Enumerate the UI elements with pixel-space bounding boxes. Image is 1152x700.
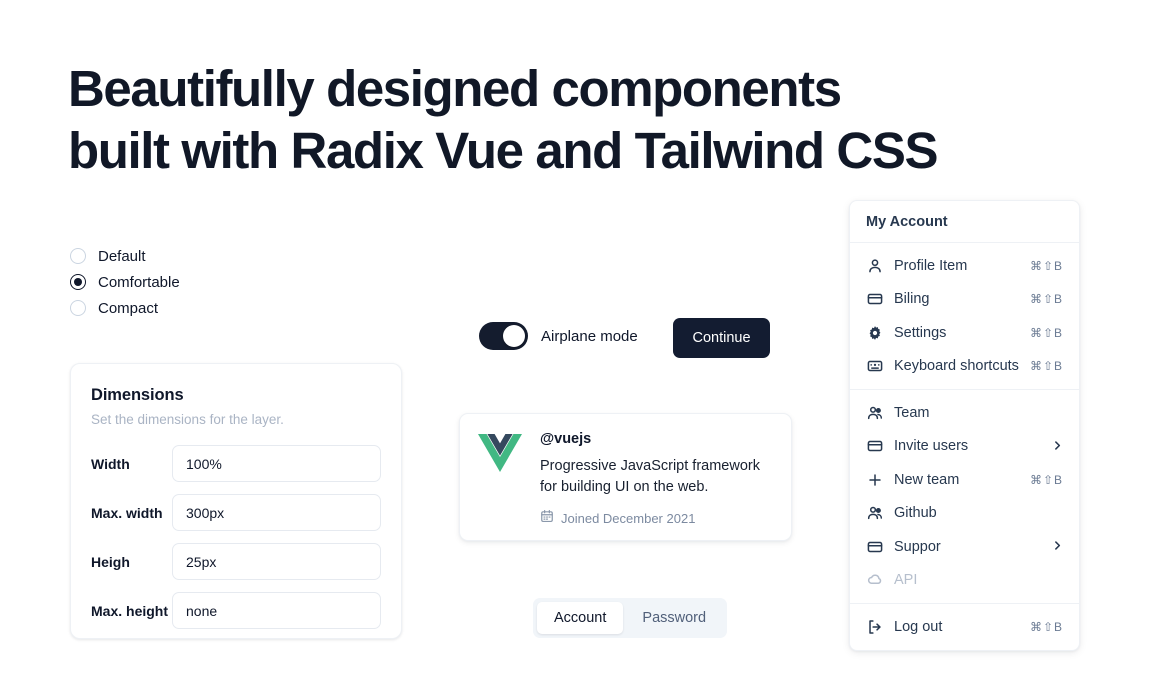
vuejs-handle: @vuejs [540,431,773,447]
menu-group: Log out⌘⇧B [850,604,1079,650]
menu-item-label: Biling [894,291,1019,307]
menu-item-suppor[interactable]: Suppor [850,530,1079,564]
menu-item-label: Log out [894,619,1019,635]
radio-indicator[interactable] [70,300,86,316]
radio-option-compact[interactable]: Compact [70,299,180,317]
continue-button[interactable]: Continue [673,318,770,358]
cloud-icon [866,572,883,589]
joined-text: Joined December 2021 [561,511,695,526]
keyboard-icon [866,358,883,375]
menu-item-shortcut: ⌘⇧B [1030,259,1063,273]
account-dropdown-menu: My Account Profile Item⌘⇧BBiling⌘⇧BSetti… [849,200,1080,651]
vuejs-description: Progressive JavaScript framework for bui… [540,456,773,498]
page-title-line-1: Beautifully designed components [68,58,1028,120]
menu-item-label: Invite users [894,438,1041,454]
dimension-label: Max. width [91,505,172,521]
menu-group: TeamInvite usersNew team⌘⇧BGithubSupporA… [850,390,1079,603]
dimension-label: Max. height [91,603,172,619]
radio-option-comfortable[interactable]: Comfortable [70,273,180,291]
dimension-input-width[interactable] [172,445,381,482]
plus-icon [866,471,883,488]
radio-indicator[interactable] [70,248,86,264]
users-icon [866,505,883,522]
radio-option-default[interactable]: Default [70,247,180,265]
menu-item-new-team[interactable]: New team⌘⇧B [850,463,1079,497]
density-radio-group: DefaultComfortableCompact [70,247,180,317]
menu-item-shortcut: ⌘⇧B [1030,359,1063,373]
menu-item-label: Settings [894,325,1019,341]
person-icon [866,257,883,274]
menu-item-shortcut: ⌘⇧B [1030,620,1063,634]
menu-group: Profile Item⌘⇧BBiling⌘⇧BSettings⌘⇧BKeybo… [850,243,1079,389]
menu-item-api: API [850,564,1079,598]
menu-item-log-out[interactable]: Log out⌘⇧B [850,610,1079,644]
menu-item-label: Keyboard shortcuts [894,358,1019,374]
dimension-input-heigh[interactable] [172,543,381,580]
radio-option-label: Compact [98,300,158,317]
dimensions-card: Dimensions Set the dimensions for the la… [70,363,402,639]
menu-item-team[interactable]: Team [850,396,1079,430]
joined-row: Joined December 2021 [540,509,773,528]
dimensions-subtitle: Set the dimensions for the layer. [91,412,381,427]
radio-option-label: Comfortable [98,274,180,291]
radio-option-label: Default [98,248,146,265]
dimensions-title: Dimensions [91,386,381,405]
credit-card-icon [866,438,883,455]
tab-account[interactable]: Account [537,602,623,634]
menu-item-label: API [894,572,1063,588]
page-title-line-2: built with Radix Vue and Tailwind CSS [68,120,1028,182]
switch-knob [503,325,525,347]
hover-card-body: @vuejs Progressive JavaScript framework … [540,431,773,523]
dimension-row: Heigh [91,543,381,580]
radio-indicator[interactable] [70,274,86,290]
page-root: Beautifully designed components built wi… [0,0,1152,700]
dimension-row: Max. width [91,494,381,531]
menu-header: My Account [850,201,1079,242]
dimension-row: Max. height [91,592,381,629]
calendar-icon [540,509,554,528]
dimension-input-max-width[interactable] [172,494,381,531]
menu-item-shortcut: ⌘⇧B [1030,292,1063,306]
credit-card-icon [866,538,883,555]
menu-item-label: Github [894,505,1063,521]
menu-item-label: Team [894,405,1063,421]
menu-item-invite-users[interactable]: Invite users [850,430,1079,464]
menu-item-label: Suppor [894,539,1041,555]
menu-item-settings[interactable]: Settings⌘⇧B [850,316,1079,350]
tab-password[interactable]: Password [625,602,723,634]
gear-icon [866,324,883,341]
menu-item-shortcut: ⌘⇧B [1030,326,1063,340]
airplane-mode-label: Airplane mode [541,328,638,345]
menu-item-keyboard-shortcuts[interactable]: Keyboard shortcuts⌘⇧B [850,350,1079,384]
logout-icon [866,618,883,635]
users-icon [866,404,883,421]
dimension-row: Width [91,445,381,482]
menu-item-profile-item[interactable]: Profile Item⌘⇧B [850,249,1079,283]
dimension-input-max-height[interactable] [172,592,381,629]
settings-tabs: AccountPassword [533,598,727,638]
airplane-mode-switch[interactable] [479,322,528,350]
dimensions-fields: WidthMax. widthHeighMax. height [91,445,381,629]
menu-item-label: Profile Item [894,258,1019,274]
airplane-mode-row: Airplane mode [479,322,638,350]
vuejs-hover-card: @vuejs Progressive JavaScript framework … [459,413,792,541]
dimension-label: Heigh [91,554,172,570]
chevron-right-icon [1052,440,1063,453]
menu-item-github[interactable]: Github [850,497,1079,531]
vue-logo-icon [478,433,522,473]
menu-item-shortcut: ⌘⇧B [1030,473,1063,487]
menu-item-biling[interactable]: Biling⌘⇧B [850,283,1079,317]
dimension-label: Width [91,456,172,472]
menu-groups: Profile Item⌘⇧BBiling⌘⇧BSettings⌘⇧BKeybo… [850,243,1079,650]
credit-card-icon [866,291,883,308]
page-title: Beautifully designed components built wi… [68,58,1028,182]
menu-item-label: New team [894,472,1019,488]
chevron-right-icon [1052,540,1063,553]
